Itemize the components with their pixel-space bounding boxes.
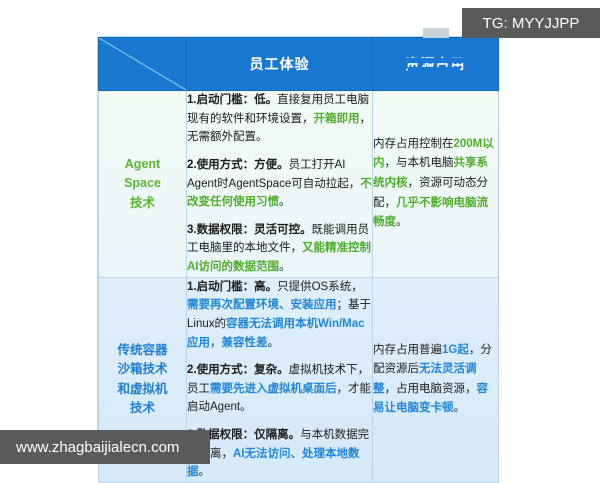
text-fragment: 1G起 (442, 344, 469, 356)
text-fragment: 需要先进入虚拟机桌面后 (210, 383, 337, 395)
table-row: AgentSpace技术 1.启动门槛：低。直接复用员工电脑现有的软件和环境设置… (99, 91, 499, 278)
row-experience-container-vm: 1.启动门槛：高。只提供OS系统，需要再次配置环境、安装应用；基于Linux的容… (187, 277, 373, 482)
text-fragment: 只提供OS系统， (277, 281, 363, 293)
text-fragment: 。 (268, 337, 280, 349)
header-label-experience: 员工体验 (250, 56, 310, 72)
experience-point: 1.启动门槛：高。只提供OS系统，需要再次配置环境、安装应用；基于Linux的容… (187, 278, 372, 353)
text-fragment: 需要再次配置环境、安装应用 (187, 299, 337, 311)
row-label-line: Space (124, 176, 161, 190)
watermark-bottom-text: www.zhagbaijialecn.com (16, 439, 179, 456)
glitch-strike-artifact-2 (408, 67, 460, 71)
table-header-corner-cell (99, 38, 187, 91)
table-header-row: 员工体验 资源占用 (99, 38, 499, 91)
table-header-employee-experience: 员工体验 (187, 38, 373, 91)
row-label-line: 技术 (130, 401, 155, 415)
experience-point-lead: 1.启动门槛：高。 (187, 281, 277, 293)
text-fragment: 。 (279, 196, 291, 208)
watermark-bottom-left: www.zhagbaijialecn.com (0, 430, 210, 464)
text-fragment: 开箱即用 (314, 113, 360, 125)
text-fragment: 。 (199, 466, 211, 478)
row-label-line: 和虚拟机 (117, 382, 167, 396)
row-label-line: 技术 (130, 196, 155, 210)
watermark-top-right: TG: MYYJJPP (462, 8, 600, 38)
text-fragment: 。 (279, 261, 291, 273)
page-root: 员工体验 资源占用 AgentSpace技术 1.启动门槛 (0, 0, 600, 480)
experience-point: 2.使用方式：复杂。虚拟机技术下，员工需要先进入虚拟机桌面后，才能启动Agent… (187, 361, 372, 417)
experience-point-lead: 1.启动门槛：低。 (187, 94, 277, 106)
text-fragment: 。 (454, 402, 466, 414)
comparison-table-container: 员工体验 资源占用 AgentSpace技术 1.启动门槛 (97, 36, 497, 440)
text-fragment: ，占用电脑资源， (385, 383, 477, 395)
experience-point: 3.数据权限：仅隔离。与本机数据完全隔离，AI无法访问、处理本地数据。 (187, 426, 372, 482)
text-fragment: 。 (396, 216, 408, 228)
experience-point-lead: 2.使用方式：复杂。 (187, 364, 289, 376)
row-label-agentspace: AgentSpace技术 (99, 91, 187, 278)
experience-point: 2.使用方式：方便。员工打开AI Agent时AgentSpace可自动拉起，不… (187, 156, 372, 212)
experience-point-lead: 3.数据权限：灵活可控。 (187, 224, 312, 236)
watermark-top-text: TG: MYYJJPP (483, 15, 580, 32)
experience-point: 1.启动门槛：低。直接复用员工电脑现有的软件和环境设置，开箱即用，无需额外配置。 (187, 91, 372, 147)
row-resource-agentspace: 内存占用控制在200M以内，与本机电脑共享系统内核，资源可动态分配，几乎不影响电… (373, 91, 499, 278)
text-fragment: 内存占用普遍 (373, 344, 442, 356)
table-header-resource-usage: 资源占用 (373, 38, 499, 91)
experience-point-lead: 2.使用方式：方便。 (187, 159, 289, 171)
text-fragment: 内存占用控制在 (373, 138, 454, 150)
row-label-line: Agent (125, 157, 160, 171)
row-experience-agentspace: 1.启动门槛：低。直接复用员工电脑现有的软件和环境设置，开箱即用，无需额外配置。… (187, 91, 373, 278)
row-resource-container-vm: 内存占用普遍1G起，分配资源后无法灵活调整，占用电脑资源，容易让电脑变卡顿。 (373, 277, 499, 482)
text-fragment: ，与本机电脑 (385, 157, 454, 169)
row-label-line: 沙箱技术 (117, 362, 167, 376)
glitch-strike-artifact-1 (400, 58, 464, 63)
table-body: AgentSpace技术 1.启动门槛：低。直接复用员工电脑现有的软件和环境设置… (99, 91, 499, 483)
comparison-table: 员工体验 资源占用 AgentSpace技术 1.启动门槛 (98, 37, 499, 483)
header-label-resource-wrapper: 资源占用 (406, 54, 466, 74)
experience-point: 3.数据权限：灵活可控。既能调用员工电脑里的本地文件，又能精准控制AI访问的数据… (187, 221, 372, 277)
glitch-patch-artifact (423, 28, 449, 38)
row-label-line: 传统容器 (117, 343, 167, 357)
diagonal-divider-icon (99, 38, 186, 90)
